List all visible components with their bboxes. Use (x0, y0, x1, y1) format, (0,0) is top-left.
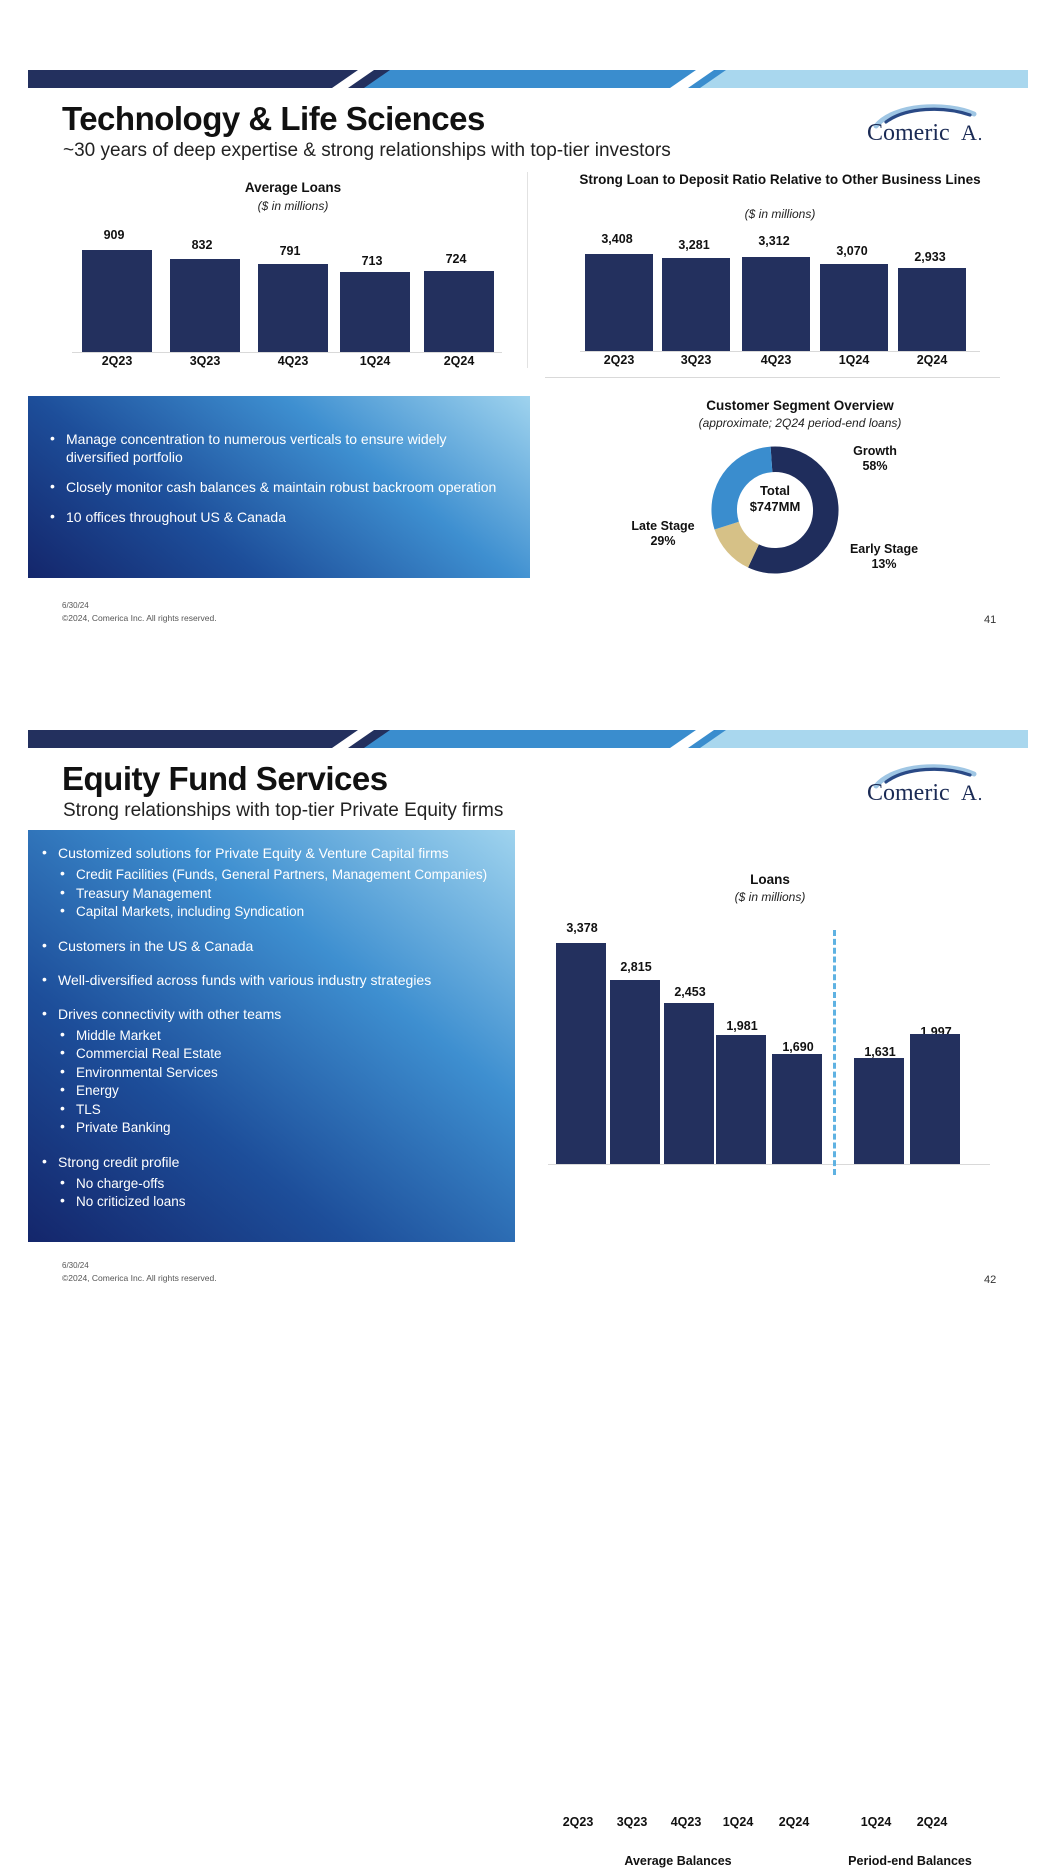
bar-value: 3,070 (810, 244, 894, 258)
bar-category: 2Q23 (575, 353, 663, 367)
bar (556, 943, 606, 1165)
bar-value: 2,815 (594, 960, 678, 974)
ribbon-segment-mid-blue (364, 70, 696, 88)
list-item: Drives connectivity with other teams Mid… (40, 1005, 499, 1137)
donut-legend-early-stage: Early Stage 13% (824, 542, 944, 572)
bar-value: 1,690 (756, 1040, 840, 1054)
list-item-label: Drives connectivity with other teams (58, 1006, 281, 1022)
bar (258, 264, 328, 353)
bar (82, 250, 152, 353)
chart2-axis (580, 351, 980, 352)
chart4-group-divider (833, 930, 836, 1175)
bar-category: 3Q23 (160, 354, 250, 368)
ribbon-segment-navy (28, 70, 358, 88)
bar-category: 3Q23 (652, 353, 740, 367)
ribbon-segment-navy (28, 730, 358, 748)
sub-list-item: No criticized loans (58, 1193, 499, 1211)
bar (716, 1035, 766, 1165)
donut-legend-late-stage-name: Late Stage (608, 519, 718, 534)
bar-value: 2,453 (648, 985, 732, 999)
bar-value: 3,408 (575, 232, 659, 246)
ribbon-segment-light-blue (700, 730, 1028, 748)
bar (424, 271, 494, 353)
list-item: Customers in the US & Canada (40, 937, 499, 955)
chart4-title: Loans (560, 872, 980, 888)
footer-date: 6/30/24 (62, 1261, 89, 1270)
svg-text:Comeric: Comeric (867, 780, 950, 806)
ribbon-segment-mid-blue (364, 730, 696, 748)
donut-center-label: Total $747MM (728, 483, 822, 515)
donut-legend-early-stage-value: 13% (824, 557, 944, 572)
sub-list-item: Capital Markets, including Syndication (58, 903, 499, 921)
header-ribbon (28, 730, 1028, 748)
svg-text:Comeric: Comeric (867, 120, 950, 146)
sub-list-item: No charge-offs (58, 1175, 499, 1193)
chart2-title: Strong Loan to Deposit Ratio Relative to… (560, 172, 1000, 188)
chart1-title: Average Loans (68, 180, 518, 196)
donut-total-label: Total (728, 483, 822, 499)
page-number: 41 (984, 614, 996, 626)
donut-legend-late-stage-value: 29% (608, 534, 718, 549)
donut-legend-early-stage-name: Early Stage (824, 542, 944, 557)
chart1-plot: 909 832 791 713 724 (72, 228, 502, 353)
sub-list-item: Treasury Management (58, 885, 499, 903)
footer-copyright: ©2024, Comerica Inc. All rights reserved… (62, 1273, 217, 1283)
donut-total-value: $747MM (728, 499, 822, 515)
sub-list-item: Credit Facilities (Funds, General Partne… (58, 866, 499, 884)
header-ribbon (28, 70, 1028, 88)
services-list: Customized solutions for Private Equity … (40, 844, 499, 1211)
bar-value: 2,933 (888, 250, 972, 264)
bar-category: 1Q24 (810, 353, 898, 367)
list-item: Closely monitor cash balances & maintain… (48, 478, 500, 496)
bar-value: 3,312 (732, 234, 816, 248)
donut-legend-growth-name: Growth (820, 444, 930, 459)
list-item-label: Strong credit profile (58, 1154, 179, 1170)
sub-list-item: Energy (58, 1082, 499, 1100)
page-title: Equity Fund Services (62, 760, 388, 798)
bar (854, 1058, 904, 1165)
sub-list-item: Private Banking (58, 1119, 499, 1137)
bar-category: 2Q24 (899, 1815, 965, 1829)
bar-category: 2Q24 (761, 1815, 827, 1829)
page-title: Technology & Life Sciences (62, 100, 485, 138)
sub-list-item: Middle Market (58, 1027, 499, 1045)
bar (742, 257, 810, 352)
sub-list: Credit Facilities (Funds, General Partne… (58, 866, 499, 921)
page-subtitle: Strong relationships with top-tier Priva… (63, 800, 503, 822)
chart1-axis (72, 352, 502, 353)
list-item-label: Customized solutions for Private Equity … (58, 845, 449, 861)
bar-category: 4Q23 (248, 354, 338, 368)
list-item: Strong credit profile No charge-offs No … (40, 1153, 499, 1211)
bar (170, 259, 240, 353)
bar-category: 1Q24 (330, 354, 420, 368)
bar (772, 1054, 822, 1165)
chart-divider-vertical (527, 172, 528, 368)
svg-text:A: A (961, 780, 977, 805)
bar-value: 3,281 (652, 238, 736, 252)
svg-text:A: A (961, 120, 977, 145)
bar-category: 4Q23 (732, 353, 820, 367)
sub-list-item: TLS (58, 1101, 499, 1119)
ribbon-segment-light-blue (700, 70, 1028, 88)
chart4-axis (548, 1164, 990, 1165)
bar (898, 268, 966, 352)
chart4-subtitle: ($ in millions) (560, 890, 980, 904)
bar-value: 724 (414, 252, 498, 266)
comerica-logo: Comeric A (864, 100, 984, 146)
bar-value: 713 (330, 254, 414, 268)
slide-technology-life-sciences: Technology & Life Sciences ~30 years of … (0, 0, 1055, 660)
bar-category: 2Q24 (888, 353, 976, 367)
sub-list-item: Environmental Services (58, 1064, 499, 1082)
bar (910, 1034, 960, 1165)
chart3-title: Customer Segment Overview (600, 398, 1000, 414)
chart3-subtitle: (approximate; 2Q24 period-end loans) (600, 416, 1000, 430)
list-item: Well-diversified across funds with vario… (40, 971, 499, 989)
chart4-plot: 3,378 2,815 2,453 1,981 1,690 1,631 1,99… (548, 925, 990, 1165)
bar (820, 264, 888, 352)
bar-category: 2Q24 (414, 354, 504, 368)
donut-legend-growth-value: 58% (820, 459, 930, 474)
list-item: Customized solutions for Private Equity … (40, 844, 499, 921)
bar-value: 832 (160, 238, 244, 252)
chart2-bottom-rule (545, 377, 1000, 378)
bar (664, 1003, 714, 1165)
chart2-subtitle: ($ in millions) (560, 207, 1000, 221)
sub-list: No charge-offs No criticized loans (58, 1175, 499, 1211)
chart1-subtitle: ($ in millions) (68, 199, 518, 213)
donut-legend-growth: Growth 58% (820, 444, 930, 474)
sub-list: Middle Market Commercial Real Estate Env… (58, 1027, 499, 1137)
bar (585, 254, 653, 352)
bar-category: 2Q23 (72, 354, 162, 368)
list-item: Manage concentration to numerous vertica… (48, 430, 500, 466)
sub-list-item: Commercial Real Estate (58, 1045, 499, 1063)
group-label-average-balances: Average Balances (578, 1854, 778, 1868)
bar-value: 3,378 (540, 921, 624, 935)
group-label-period-end-balances: Period-end Balances (810, 1854, 1010, 1868)
footer-copyright: ©2024, Comerica Inc. All rights reserved… (62, 613, 217, 623)
list-item: 10 offices throughout US & Canada (48, 508, 500, 526)
slide-equity-fund-services: Equity Fund Services Strong relationship… (0, 660, 1055, 1365)
donut-legend-late-stage: Late Stage 29% (608, 519, 718, 549)
page-subtitle: ~30 years of deep expertise & strong rel… (63, 140, 671, 162)
bar-value: 909 (72, 228, 156, 242)
bar (340, 272, 410, 353)
footer-date: 6/30/24 (62, 601, 89, 610)
services-panel: Customized solutions for Private Equity … (28, 830, 515, 1242)
comerica-logo: Comeric A (864, 760, 984, 806)
bar (662, 258, 730, 352)
insights-panel: Manage concentration to numerous vertica… (28, 396, 530, 578)
chart2-plot: 3,408 3,281 3,312 3,070 2,933 (580, 232, 980, 352)
bar-value: 791 (248, 244, 332, 258)
bar (610, 980, 660, 1165)
page-number: 42 (984, 1274, 996, 1286)
insights-list: Manage concentration to numerous vertica… (48, 430, 500, 526)
